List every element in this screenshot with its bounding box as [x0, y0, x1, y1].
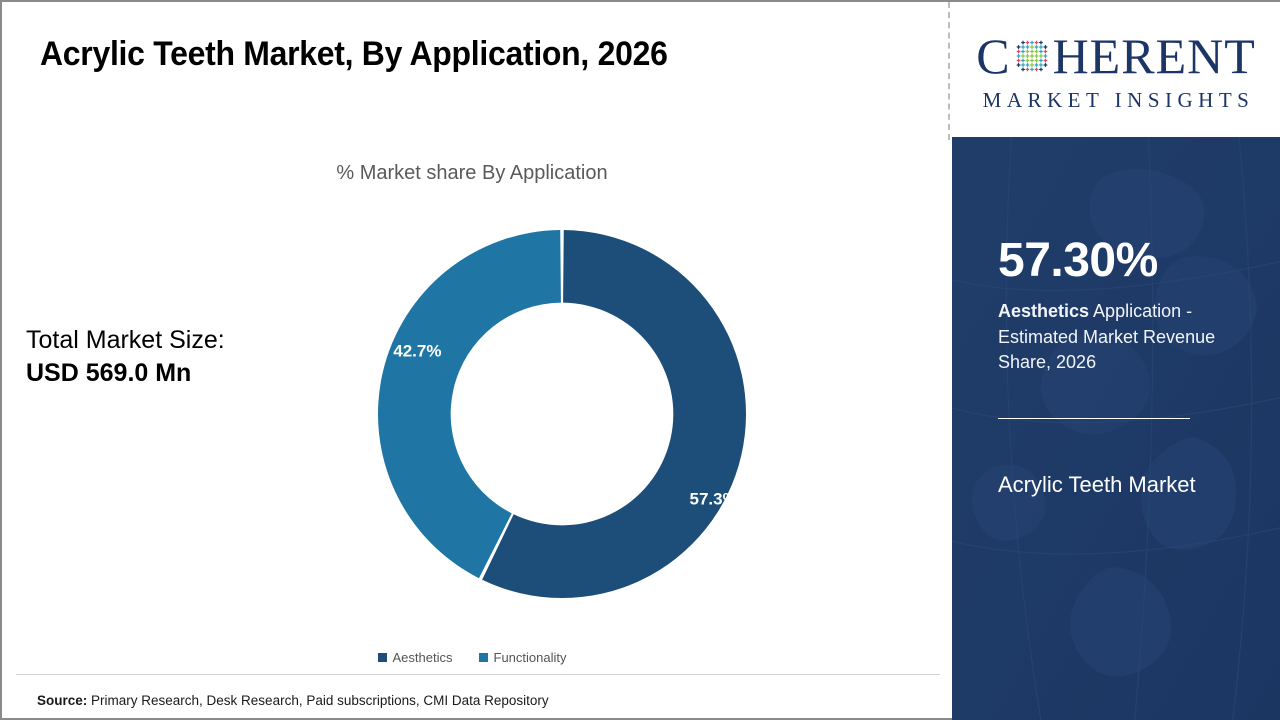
- globe-dot: [1030, 45, 1034, 49]
- globe-dot: [1034, 63, 1038, 67]
- highlight-panel-content: 57.30% Aesthetics Application - Estimate…: [952, 137, 1280, 506]
- legend-swatch-icon: [479, 653, 488, 662]
- vertical-dashed-divider: [948, 2, 950, 140]
- highlight-stat-description: Aesthetics Application - Estimated Marke…: [998, 299, 1243, 376]
- globe-dot: [1039, 54, 1043, 58]
- globe-dot: [1039, 68, 1043, 72]
- globe-dot: [1025, 59, 1029, 63]
- donut-slice-label: 57.3%: [690, 490, 738, 509]
- footer-divider: [16, 674, 940, 675]
- globe-dot: [1025, 41, 1029, 45]
- legend-label: Functionality: [494, 650, 567, 665]
- globe-dot: [1030, 50, 1034, 54]
- globe-dot: [1034, 45, 1038, 49]
- chart-legend: AestheticsFunctionality: [2, 650, 942, 665]
- globe-dot: [1021, 59, 1025, 63]
- donut-chart-svg: 57.3%42.7%: [377, 229, 747, 599]
- total-market-size-label: Total Market Size:: [26, 324, 225, 357]
- globe-dot: [1034, 50, 1038, 54]
- globe-dot: [1025, 45, 1029, 49]
- globe-dot: [1021, 68, 1025, 72]
- globe-dot: [1021, 54, 1025, 58]
- globe-dot: [1016, 54, 1020, 58]
- donut-chart: 57.3%42.7%: [377, 229, 747, 599]
- globe-dot: [1025, 68, 1029, 72]
- donut-slice-label: 42.7%: [393, 341, 441, 360]
- globe-dot: [1021, 50, 1025, 54]
- total-market-size: Total Market Size: USD 569.0 Mn: [26, 324, 225, 390]
- globe-dot: [1039, 45, 1043, 49]
- logo-subtitle: MARKET INSIGHTS: [978, 88, 1255, 113]
- globe-dot: [1016, 59, 1020, 63]
- globe-dot: [1039, 63, 1043, 67]
- highlight-stat-value: 57.30%: [998, 237, 1280, 285]
- globe-dot: [1030, 54, 1034, 58]
- globe-dot: [1039, 59, 1043, 63]
- highlight-market-name: Acrylic Teeth Market: [998, 465, 1213, 506]
- globe-dot: [1016, 50, 1020, 54]
- globe-dot: [1034, 68, 1038, 72]
- logo-word-suffix: HERENT: [1053, 31, 1256, 81]
- globe-dot: [1039, 41, 1043, 45]
- chart-subtitle: % Market share By Application: [2, 162, 942, 185]
- page-title: Acrylic Teeth Market, By Application, 20…: [40, 35, 668, 74]
- globe-dot: [1025, 54, 1029, 58]
- globe-dot: [1016, 45, 1020, 49]
- legend-item[interactable]: Aesthetics: [378, 650, 453, 665]
- source-note: Source: Primary Research, Desk Research,…: [37, 693, 549, 708]
- globe-dot: [1034, 54, 1038, 58]
- highlight-panel-divider: [998, 418, 1190, 420]
- globe-dot: [1030, 68, 1034, 72]
- highlight-panel: 57.30% Aesthetics Application - Estimate…: [952, 137, 1280, 720]
- globe-dot: [1025, 50, 1029, 54]
- highlight-stat-segment: Aesthetics: [998, 301, 1089, 321]
- globe-dots-icon: [1012, 36, 1052, 76]
- brand-logo: C HERENT MARKET INSIGHTS: [952, 4, 1280, 137]
- globe-dot: [1016, 63, 1020, 67]
- legend-item[interactable]: Functionality: [479, 650, 567, 665]
- globe-dot: [1039, 50, 1043, 54]
- globe-dot: [1043, 59, 1047, 63]
- logo-word-prefix: C: [976, 31, 1010, 81]
- total-market-size-value: USD 569.0 Mn: [26, 357, 225, 390]
- globe-dot: [1021, 63, 1025, 67]
- globe-dot: [1043, 45, 1047, 49]
- globe-dot: [1043, 63, 1047, 67]
- globe-dot: [1030, 59, 1034, 63]
- logo-wordmark: C HERENT: [976, 28, 1256, 84]
- globe-dot: [1034, 41, 1038, 45]
- globe-dot: [1025, 63, 1029, 67]
- source-label: Source:: [37, 693, 87, 708]
- globe-dot: [1021, 41, 1025, 45]
- legend-label: Aesthetics: [393, 650, 453, 665]
- globe-dot: [1043, 50, 1047, 54]
- source-text: Primary Research, Desk Research, Paid su…: [87, 693, 548, 708]
- donut-slices: [378, 230, 746, 598]
- infographic-canvas: Acrylic Teeth Market, By Application, 20…: [0, 0, 1280, 720]
- globe-dot: [1021, 45, 1025, 49]
- globe-dot: [1030, 41, 1034, 45]
- legend-swatch-icon: [378, 653, 387, 662]
- globe-dot: [1034, 59, 1038, 63]
- globe-dot: [1030, 63, 1034, 67]
- globe-dot: [1043, 54, 1047, 58]
